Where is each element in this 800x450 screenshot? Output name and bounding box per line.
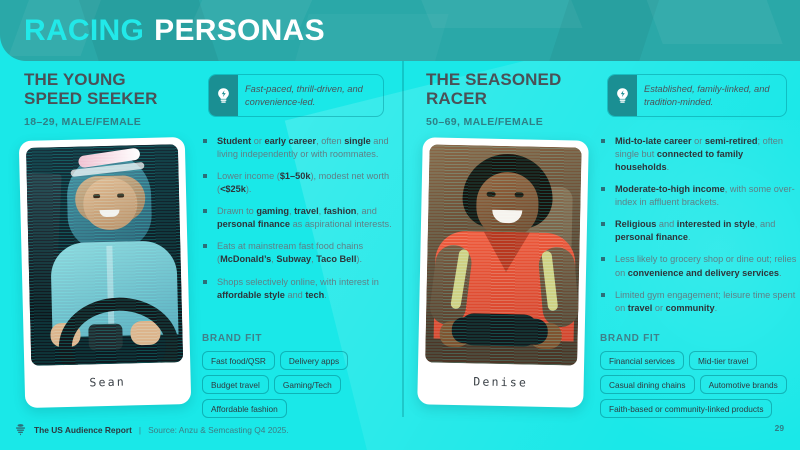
list-item: Drawn to gaming, travel, fashion, and pe… (202, 205, 392, 231)
list-item: Religious and interested in style, and p… (600, 218, 798, 244)
header-title-row: RACINGPERSONAS (24, 0, 325, 61)
header-facet (637, 0, 782, 44)
persona-photo-card: Denise (417, 137, 589, 407)
persona-panel-young-speed-seeker: THE YOUNG SPEED SEEKER 18–29, MALE/FEMAL… (0, 61, 400, 417)
persona-bullet-list: Student or early career, often single an… (202, 135, 392, 311)
list-item: Lower income ($1–50k), modest net worth … (202, 170, 392, 196)
persona-title: THE SEASONED RACER (426, 71, 602, 108)
persona-demographic: 50–69, MALE/FEMALE (426, 116, 602, 128)
list-item: Mid-to-late career or semi-retired; ofte… (600, 135, 798, 174)
list-item: Moderate-to-high income, with some over-… (600, 183, 798, 209)
slide-header: RACINGPERSONAS (0, 0, 800, 61)
persona-title: THE YOUNG SPEED SEEKER (24, 71, 200, 108)
persona-title-line1: THE SEASONED (426, 71, 602, 90)
footer-report-name: The US Audience Report (34, 425, 132, 435)
brand-fit-chip[interactable]: Fast food/QSR (202, 351, 275, 370)
list-item: Shops selectively online, with interest … (202, 276, 392, 302)
brand-fit-section: BRAND FIT Financial services Mid-tier tr… (600, 333, 800, 418)
list-item: Eats at mainstream fast food chains (McD… (202, 240, 392, 266)
persona-photo-name: Sean (31, 362, 184, 401)
brand-fit-chip[interactable]: Casual dining chains (600, 375, 695, 394)
footer-source: Source: Anzu & Semcasting Q4 2025. (148, 425, 289, 435)
page-number: 29 (775, 423, 784, 433)
list-item: Student or early career, often single an… (202, 135, 392, 161)
persona-photo (425, 144, 582, 365)
scanline-overlay (26, 144, 183, 366)
persona-bullet-list: Mid-to-late career or semi-retired; ofte… (600, 135, 798, 324)
persona-heading: THE YOUNG SPEED SEEKER 18–29, MALE/FEMAL… (24, 71, 200, 128)
brand-fit-chips: Fast food/QSR Delivery apps Budget trave… (202, 351, 398, 418)
slide-footer: The US Audience Report | Source: Anzu & … (0, 417, 800, 450)
brand-fit-section: BRAND FIT Fast food/QSR Delivery apps Bu… (202, 333, 398, 418)
persona-title-line2: RACER (426, 90, 602, 109)
lightbulb-bolt-icon (608, 75, 637, 116)
persona-tagline-badge: Fast-paced, thrill-driven, and convenien… (208, 74, 384, 117)
page-title-accent: RACING (24, 14, 144, 47)
persona-photo-card: Sean (19, 137, 191, 408)
persona-tagline: Established, family-linked, and traditio… (637, 75, 786, 116)
persona-demographic: 18–29, MALE/FEMALE (24, 116, 200, 128)
stacked-disc-logo-icon (14, 423, 27, 436)
slide-root: RACINGPERSONAS THE YOUNG SPEED SEEKER 18… (0, 0, 800, 450)
brand-fit-chip[interactable]: Gaming/Tech (274, 375, 341, 394)
persona-title-line1: THE YOUNG (24, 71, 200, 90)
persona-photo (26, 144, 183, 366)
brand-fit-chip[interactable]: Mid-tier travel (689, 351, 757, 370)
footer-bar: The US Audience Report | Source: Anzu & … (14, 423, 289, 436)
brand-fit-chip[interactable]: Affordable fashion (202, 399, 287, 418)
brand-fit-chip[interactable]: Financial services (600, 351, 684, 370)
persona-panel-seasoned-racer: THE SEASONED RACER 50–69, MALE/FEMALE Es… (402, 61, 800, 417)
persona-tagline-badge: Established, family-linked, and traditio… (607, 74, 787, 117)
list-item: Less likely to grocery shop or dine out;… (600, 253, 798, 279)
page-title-main: PERSONAS (154, 14, 325, 47)
persona-title-line2: SPEED SEEKER (24, 90, 200, 109)
list-item: Limited gym engagement; leisure time spe… (600, 289, 798, 315)
brand-fit-chip[interactable]: Faith-based or community-linked products (600, 399, 772, 418)
scanline-overlay (425, 144, 582, 365)
persona-heading: THE SEASONED RACER 50–69, MALE/FEMALE (426, 71, 602, 128)
brand-fit-chip[interactable]: Automotive brands (700, 375, 787, 394)
brand-fit-chip[interactable]: Delivery apps (280, 351, 348, 370)
brand-fit-label: BRAND FIT (600, 333, 800, 344)
page-title: RACINGPERSONAS (24, 16, 325, 46)
footer-separator: | (139, 425, 141, 435)
brand-fit-chip[interactable]: Budget travel (202, 375, 269, 394)
persona-photo-name: Denise (424, 362, 577, 400)
persona-tagline: Fast-paced, thrill-driven, and convenien… (238, 75, 383, 116)
lightbulb-bolt-icon (209, 75, 238, 116)
brand-fit-label: BRAND FIT (202, 333, 398, 344)
brand-fit-chips: Financial services Mid-tier travel Casua… (600, 351, 800, 418)
